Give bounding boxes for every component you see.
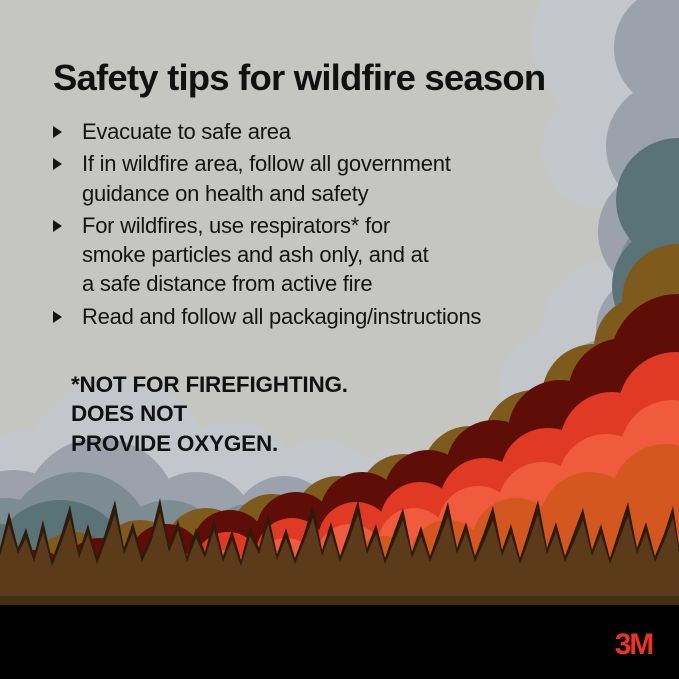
tip-line: smoke particles and ash only, and at [82,242,428,267]
safety-tips-list: Evacuate to safe area If in wildfire are… [52,117,612,334]
triangle-right-marker-icon [53,126,62,138]
3m-logo: 3M [615,630,652,660]
tip-line: guidance on health and safety [82,181,368,206]
wildfire-safety-poster: Safety tips for wildfire season Evacuate… [0,0,679,679]
list-item: Read and follow all packaging/instructio… [52,302,612,331]
tip-line: a safe distance from active fire [82,271,372,296]
wildfire-illustration [0,0,679,679]
footer-band [0,605,679,679]
list-item: Evacuate to safe area [52,117,612,146]
tip-line: Evacuate to safe area [82,119,291,144]
tip-line: If in wildfire area, follow all governme… [82,151,451,176]
triangle-right-marker-icon [53,220,62,232]
tip-line: For wildfires, use respirators* for [82,213,390,238]
page-title: Safety tips for wildfire season [53,58,633,97]
list-item: For wildfires, use respirators* for smok… [52,211,612,299]
triangle-right-marker-icon [53,158,62,170]
disclaimer-line: PROVIDE OXYGEN. [71,429,501,458]
list-item: If in wildfire area, follow all governme… [52,149,612,208]
disclaimer-line: *NOT FOR FIREFIGHTING. [71,370,501,399]
tip-line: Read and follow all packaging/instructio… [82,304,481,329]
disclaimer-line: DOES NOT [71,399,501,428]
triangle-right-marker-icon [53,311,62,323]
disclaimer-text: *NOT FOR FIREFIGHTING. DOES NOT PROVIDE … [71,370,501,458]
